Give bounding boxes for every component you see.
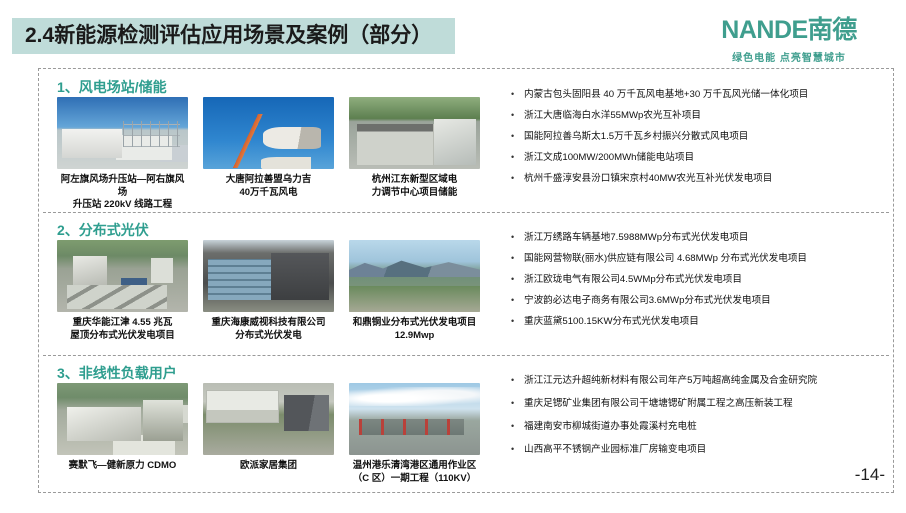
thumbnail-item[interactable]: 杭州江东新型区域电 力调节中心项目储能 <box>349 97 480 199</box>
bullet-item: 宁波韵必达电子商务有限公司3.6MWp分布式光伏发电项目 <box>509 295 889 307</box>
thumbnail-caption: 重庆华能江津 4.55 兆瓦 屋顶分布式光伏发电项目 <box>57 317 188 342</box>
bullet-item: 国能阿拉善乌斯太1.5万千瓦乡村振兴分散式风电项目 <box>509 131 889 143</box>
bullet-item: 杭州千盛淳安县汾口镇宋京村40MW农光互补光伏发电项目 <box>509 173 889 185</box>
thumbnail-item[interactable]: 阿左旗风场升压站—阿右旗风场 升压站 220kV 线路工程 <box>57 97 188 212</box>
bullet-item: 浙江欧珑电气有限公司4.5WMp分布式光伏发电项目 <box>509 274 889 286</box>
bullet-item: 山西高平不锈钢产业园标准厂房输变电项目 <box>509 444 889 456</box>
thumbnail-item[interactable]: 温州港乐清湾港区通用作业区 （C 区）一期工程（110KV） <box>349 383 480 485</box>
logo-wordmark: NANDE南德 <box>689 16 889 44</box>
thumbnail-caption: 欧派家居集团 <box>203 460 334 473</box>
brand-logo: NANDE南德 绿色电能 点亮智慧城市 <box>689 16 889 64</box>
photo-factory <box>203 383 334 455</box>
photo-substation <box>57 97 188 169</box>
content-frame: 1、风电场站/储能 阿左旗风场升压站—阿右旗风场 升压站 220kV 线路工程 … <box>38 68 894 493</box>
section-1-bullets: 内蒙古包头固阳县 40 万千瓦风电基地+30 万千瓦风光储一体化项目 浙江大唐临… <box>509 89 889 185</box>
section-2-heading: 2、分布式光伏 <box>57 220 149 240</box>
thumbnail-item[interactable]: 欧派家居集团 <box>203 383 334 473</box>
thumbnail-item[interactable]: 赛默飞—健新原力 CDMO <box>57 383 188 473</box>
thumbnail-item[interactable]: 和鼎铜业分布式光伏发电项目 12.9Mwp <box>349 240 480 342</box>
thumbnail-caption: 和鼎铜业分布式光伏发电项目 12.9Mwp <box>349 317 480 342</box>
thumbnail-item[interactable]: 大唐阿拉善盟乌力吉 40万千瓦风电 <box>203 97 334 199</box>
section-2-bullets: 浙江万绣路车辆基地7.5988MWp分布式光伏发电项目 国能网营物联(丽水)供应… <box>509 232 889 328</box>
bullet-item: 浙江江元达升超纯新材料有限公司年产5万吨超高纯金属及合金研究院 <box>509 375 889 387</box>
section-3-heading: 3、非线性负载用户 <box>57 363 177 383</box>
thumbnail-caption: 温州港乐清湾港区通用作业区 （C 区）一期工程（110KV） <box>349 460 480 485</box>
thumbnail-item[interactable]: 重庆海康威视科技有限公司 分布式光伏发电 <box>203 240 334 342</box>
slide-canvas: 2.4新能源检测评估应用场景及案例（部分） NANDE南德 绿色电能 点亮智慧城… <box>0 0 906 513</box>
photo-wind-turbine <box>203 97 334 169</box>
bullet-item: 国能网营物联(丽水)供应链有限公司 4.68MWp 分布式光伏发电项目 <box>509 253 889 265</box>
bullet-item: 重庆足锶矿业集团有限公司干塘塘锶矿附属工程之高压新装工程 <box>509 398 889 410</box>
thumbnail-caption: 大唐阿拉善盟乌力吉 40万千瓦风电 <box>203 174 334 199</box>
photo-port <box>349 383 480 455</box>
page-title: 2.4新能源检测评估应用场景及案例（部分） <box>25 20 432 52</box>
thumbnail-caption: 赛默飞—健新原力 CDMO <box>57 460 188 473</box>
bullet-item: 内蒙古包头固阳县 40 万千瓦风电基地+30 万千瓦风光储一体化项目 <box>509 89 889 101</box>
photo-district-energy <box>349 97 480 169</box>
thumbnail-caption: 重庆海康威视科技有限公司 分布式光伏发电 <box>203 317 334 342</box>
thumbnail-caption: 阿左旗风场升压站—阿右旗风场 升压站 220kV 线路工程 <box>57 174 188 212</box>
photo-mountain-road <box>349 240 480 312</box>
section-nonlinear-load: 3、非线性负载用户 赛默飞—健新原力 CDMO 欧派家居集团 温州港乐清湾港区通… <box>39 355 893 492</box>
section-3-bullets: 浙江江元达升超纯新材料有限公司年产5万吨超高纯金属及合金研究院 重庆足锶矿业集团… <box>509 375 889 456</box>
photo-pharma-campus <box>57 383 188 455</box>
thumbnail-caption: 杭州江东新型区域电 力调节中心项目储能 <box>349 174 480 199</box>
section-distributed-pv: 2、分布式光伏 重庆华能江津 4.55 兆瓦 屋顶分布式光伏发电项目 重庆海康威… <box>39 212 893 355</box>
bullet-item: 浙江大唐临海白水洋55MWp农光互补项目 <box>509 110 889 122</box>
section-wind-storage: 1、风电场站/储能 阿左旗风场升压站—阿右旗风场 升压站 220kV 线路工程 … <box>39 69 893 212</box>
bullet-item: 浙江文成100MW/200MWh储能电站项目 <box>509 152 889 164</box>
bullet-item: 浙江万绣路车辆基地7.5988MWp分布式光伏发电项目 <box>509 232 889 244</box>
section-1-heading: 1、风电场站/储能 <box>57 77 167 97</box>
photo-aerial-industrial <box>57 240 188 312</box>
bullet-item: 重庆蓝黛5100.15KW分布式光伏发电项目 <box>509 316 889 328</box>
thumbnail-item[interactable]: 重庆华能江津 4.55 兆瓦 屋顶分布式光伏发电项目 <box>57 240 188 342</box>
bullet-item: 福建南安市柳城街道办事处霞溪村充电桩 <box>509 421 889 433</box>
logo-tagline: 绿色电能 点亮智慧城市 <box>689 49 889 64</box>
photo-office-building <box>203 240 334 312</box>
page-number: -14- <box>855 465 885 485</box>
